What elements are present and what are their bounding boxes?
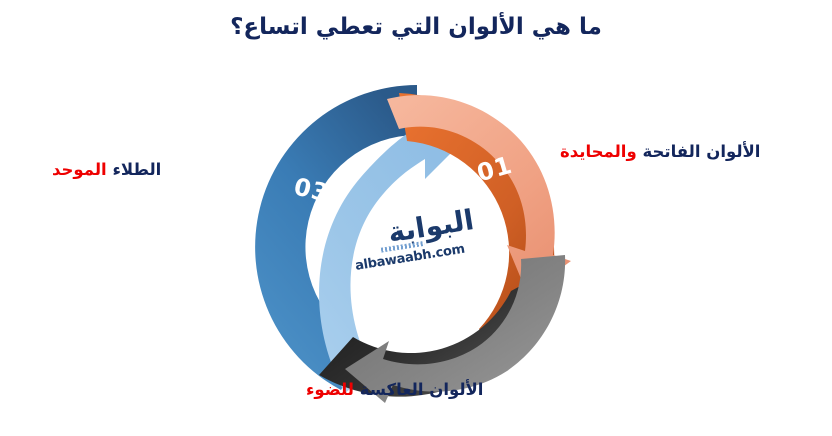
label-light-reflecting-colors: الألوان العاكسة للضوء	[306, 380, 483, 399]
segment-number-02: 02	[396, 329, 431, 357]
label-bottom-navy: الألوان العاكسة	[360, 380, 484, 399]
label-right-red: والمحايدة	[560, 142, 637, 161]
label-right-navy: الألوان الفاتحة	[642, 142, 760, 161]
page-title: ما هي الألوان التي تعطي اتساع؟	[0, 14, 832, 40]
label-light-neutral-colors: الألوان الفاتحة والمحايدة	[560, 142, 760, 161]
label-bottom-red: للضوء	[306, 380, 354, 399]
label-left-navy: الطلاء	[112, 160, 161, 179]
label-uniform-paint: الطلاء الموحد	[52, 160, 161, 179]
label-left-red: الموحد	[52, 160, 107, 179]
cycle-diagram	[249, 79, 585, 415]
